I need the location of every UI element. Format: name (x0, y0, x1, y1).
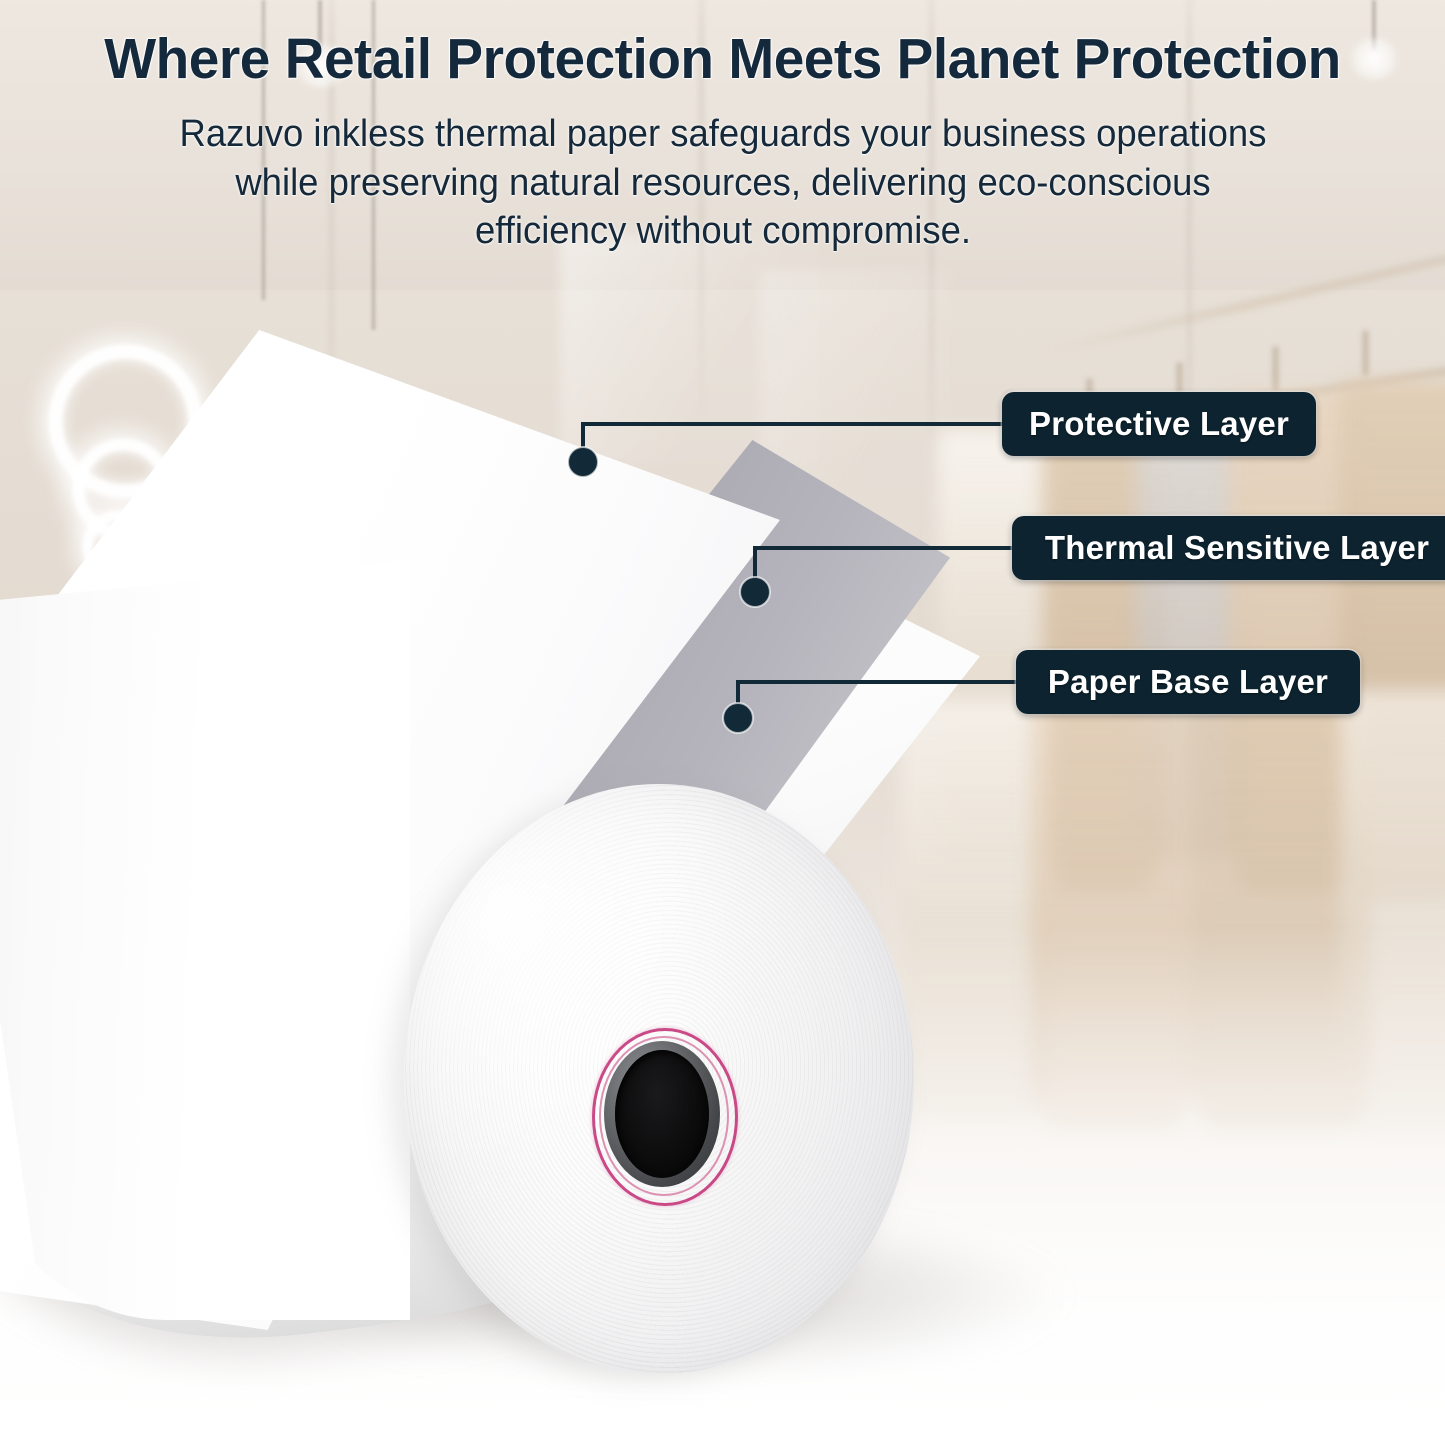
callout-label: Protective Layer (1029, 405, 1289, 443)
page-headline: Where Retail Protection Meets Planet Pro… (25, 30, 1419, 90)
core-bore-hole (615, 1050, 709, 1178)
page-subheadline: Razuvo inkless thermal paper safeguards … (166, 110, 1280, 256)
callout-protective-layer[interactable]: Protective Layer (1002, 392, 1316, 456)
callout-label: Thermal Sensitive Layer (1045, 529, 1429, 567)
callout-paper-base-layer[interactable]: Paper Base Layer (1016, 650, 1360, 714)
callout-label: Paper Base Layer (1048, 663, 1328, 701)
product-infographic: Protective Layer Thermal Sensitive Layer… (0, 0, 1445, 1445)
callout-thermal-sensitive-layer[interactable]: Thermal Sensitive Layer (1012, 516, 1445, 580)
protective-layer-curl (0, 560, 410, 1320)
